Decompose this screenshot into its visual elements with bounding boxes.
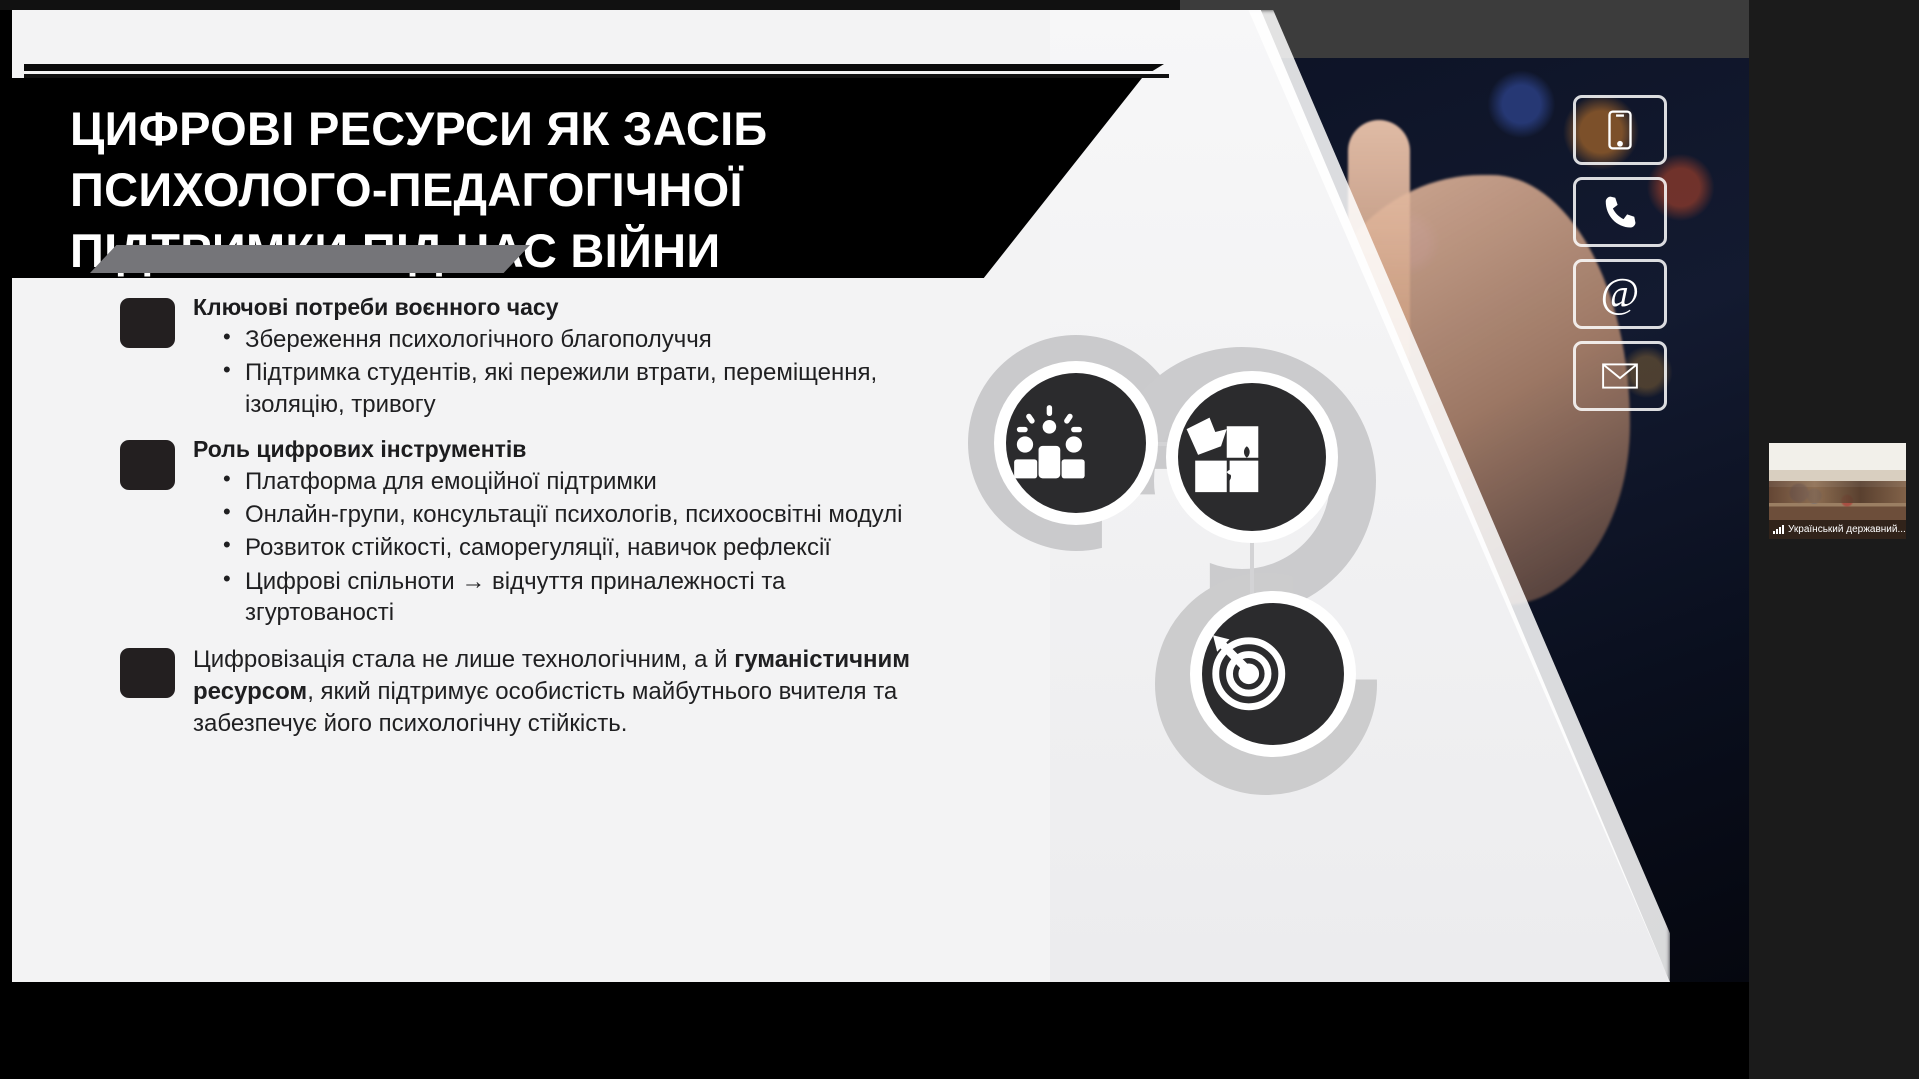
graphic-connector [1250,531,1254,605]
title-rule-lower [24,74,1169,78]
group-marker-square [120,648,175,698]
conclusion-paragraph: Цифровізація стала не лише технологічним… [193,642,920,740]
group-marker-square [120,298,175,348]
process-circles-graphic [960,325,1380,825]
list-item: Збереження психологічного благополуччя [221,324,920,355]
video-call-sidebar: Український державний... [1749,0,1919,1079]
slide-top-black-strip [0,0,1180,10]
conclusion-group: Цифровізація стала не лише технологічним… [120,642,920,740]
title-rule-upper [24,64,1164,71]
list-item: Підтримка студентів, які пережили втрати… [221,357,920,419]
group-bullet-list: Збереження психологічного благополуччя П… [221,324,920,420]
at-symbol-icon: @ [1573,259,1667,329]
slide-content: Ключові потреби воєнного часу Збереження… [120,292,920,752]
graphic-connector [1146,442,1180,446]
at-glyph: @ [1601,273,1640,315]
participant-name-bar: Український державний... [1769,520,1906,539]
screen-bottom-band [0,982,1919,1079]
title-accent-bar [90,245,530,273]
list-item: Онлайн-групи, консультації психологів, п… [221,499,920,530]
signal-bars-icon [1773,525,1784,534]
graphic-node [1178,383,1326,531]
graphic-node [1006,373,1146,513]
puzzle-pieces-icon [1178,409,1326,506]
content-group: Ключові потреби воєнного часу Збереження… [120,292,920,422]
envelope-icon [1573,341,1667,411]
target-arrow-icon [1202,627,1344,720]
group-marker-square [120,440,175,490]
screen-share-view: ЦИФРОВІ РЕСУРСИ ЯК ЗАСІБ ПСИХОЛОГО-ПЕДАГ… [0,0,1919,1079]
graphic-node [1202,603,1344,745]
list-item: Розвиток стійкості, саморегуляції, навич… [221,532,920,563]
conclusion-lead: Цифровізація стала не лише технологічним… [193,646,734,673]
people-celebration-icon [1006,397,1146,489]
participant-name: Український державний... [1788,524,1906,535]
group-heading: Роль цифрових інструментів [193,434,920,465]
content-group: Роль цифрових інструментів Платформа для… [120,434,920,630]
phone-handset-icon [1573,177,1667,247]
list-item: Цифрові спільноти → відчуття приналежнос… [221,566,920,628]
smartphone-icon [1573,95,1667,165]
participant-thumbnail[interactable]: Український державний... [1769,443,1906,539]
list-item: Платформа для емоційної підтримки [221,466,920,497]
contact-icons-column: @ [1573,95,1677,423]
presentation-slide: ЦИФРОВІ РЕСУРСИ ЯК ЗАСІБ ПСИХОЛОГО-ПЕДАГ… [0,0,1749,982]
group-heading: Ключові потреби воєнного часу [193,292,920,323]
group-bullet-list: Платформа для емоційної підтримки Онлайн… [221,466,920,628]
